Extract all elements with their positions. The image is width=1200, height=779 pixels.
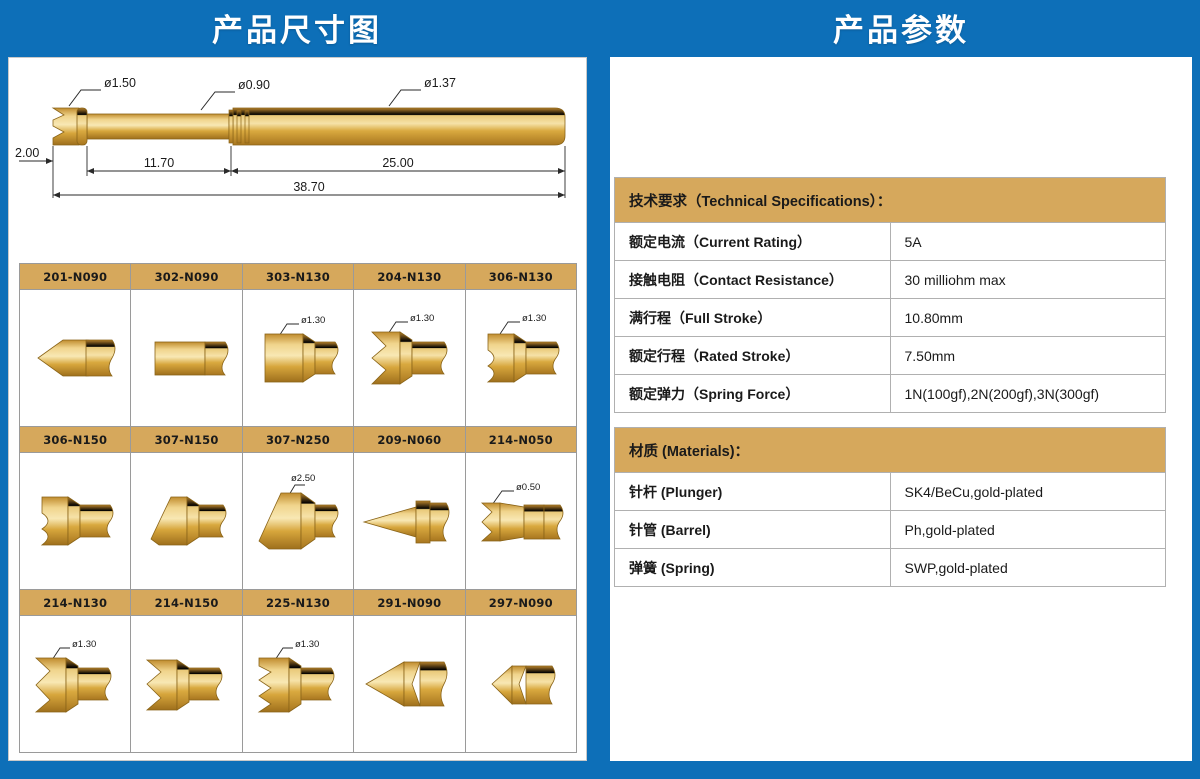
diameter-label: ø1.30	[301, 315, 325, 326]
table-row: 额定行程（Rated Stroke） 7.50mm	[615, 337, 1166, 375]
materials-section-title: 材质 (Materials)：	[615, 428, 1166, 473]
length-label-tip: 2.00	[15, 146, 39, 160]
tip-cell-306-n150	[20, 453, 131, 590]
diameter-label-tip: ø1.50	[104, 76, 136, 90]
diameter-label: ø1.30	[410, 313, 434, 324]
dimension-drawing-panel: ø1.50 ø0.90 ø1.37	[8, 57, 587, 761]
material-value: Ph,gold-plated	[890, 511, 1166, 549]
table-row: 针杆 (Plunger) SK4/BeCu,gold-plated	[615, 473, 1166, 511]
material-key: 针管 (Barrel)	[615, 511, 891, 549]
tip-model-header: 214-N130	[20, 590, 131, 616]
tip-cell-214-n050: ø0.50	[465, 453, 576, 590]
spec-key: 满行程（Full Stroke）	[615, 299, 891, 337]
table-row: 接触电阻（Contact Resistance） 30 milliohm max	[615, 261, 1166, 299]
diameter-label: ø0.50	[516, 482, 540, 493]
page-title-product-parameters: 产品参数	[602, 0, 1200, 54]
tip-cell-204-n130: ø1.30	[354, 290, 465, 427]
table-row: 额定弹力（Spring Force） 1N(100gf),2N(200gf),3…	[615, 375, 1166, 413]
tip-cell-297-n090	[465, 616, 576, 753]
tip-cell-307-n150	[131, 453, 242, 590]
tip-grid-header-row: 201-N090 302-N090 303-N130 204-N130 306-…	[20, 264, 577, 290]
diameter-label: ø1.30	[72, 639, 96, 650]
tip-grid-image-row: ø1.30	[20, 616, 577, 753]
length-label-barrel: 25.00	[382, 156, 413, 170]
spec-key: 接触电阻（Contact Resistance）	[615, 261, 891, 299]
tip-model-header: 291-N090	[354, 590, 465, 616]
tip-model-header: 307-N250	[242, 427, 353, 453]
product-parameters-panel: 技术要求（Technical Specifications）： 额定电流（Cur…	[610, 57, 1192, 761]
technical-specifications-table: 技术要求（Technical Specifications）： 额定电流（Cur…	[614, 177, 1166, 413]
diameter-label: ø1.30	[295, 639, 319, 650]
tip-cell-214-n150	[131, 616, 242, 753]
tip-cell-201-n090	[20, 290, 131, 427]
tip-model-header: 209-N060	[354, 427, 465, 453]
tip-model-header: 225-N130	[242, 590, 353, 616]
length-label-plunger: 11.70	[144, 156, 174, 170]
tip-model-header: 307-N150	[131, 427, 242, 453]
table-section-header: 材质 (Materials)：	[615, 428, 1166, 473]
tip-cell-225-n130: ø1.30	[242, 616, 353, 753]
table-section-header: 技术要求（Technical Specifications）：	[615, 178, 1166, 223]
spec-value: 1N(100gf),2N(200gf),3N(300gf)	[890, 375, 1166, 413]
spec-value: 10.80mm	[890, 299, 1166, 337]
spec-value: 7.50mm	[890, 337, 1166, 375]
tip-cell-302-n090	[131, 290, 242, 427]
tip-model-header: 302-N090	[131, 264, 242, 290]
tip-grid-header-row: 214-N130 214-N150 225-N130 291-N090 297-…	[20, 590, 577, 616]
material-key: 弹簧 (Spring)	[615, 549, 891, 587]
product-spec-sheet: 产品尺寸图 产品参数	[0, 0, 1200, 779]
table-row: 弹簧 (Spring) SWP,gold-plated	[615, 549, 1166, 587]
material-key: 针杆 (Plunger)	[615, 473, 891, 511]
material-value: SK4/BeCu,gold-plated	[890, 473, 1166, 511]
tip-grid-image-row: ø1.30 ø1.30	[20, 290, 577, 427]
length-label-total: 38.70	[293, 180, 324, 194]
tip-cell-214-n130: ø1.30	[20, 616, 131, 753]
spec-key: 额定弹力（Spring Force）	[615, 375, 891, 413]
spec-value: 5A	[890, 223, 1166, 261]
diameter-label: ø1.30	[522, 313, 546, 324]
table-row: 针管 (Barrel) Ph,gold-plated	[615, 511, 1166, 549]
tip-model-header: 306-N130	[465, 264, 576, 290]
tip-cell-291-n090	[354, 616, 465, 753]
tip-cell-306-n130: ø1.30	[465, 290, 576, 427]
tip-model-header: 306-N150	[20, 427, 131, 453]
materials-table: 材质 (Materials)： 针杆 (Plunger) SK4/BeCu,go…	[614, 427, 1166, 587]
diameter-label: ø2.50	[291, 473, 315, 484]
tip-model-header: 201-N090	[20, 264, 131, 290]
tip-model-header: 303-N130	[242, 264, 353, 290]
pin-dimension-diagram: ø1.50 ø0.90 ø1.37	[9, 58, 588, 248]
tip-model-header: 214-N050	[465, 427, 576, 453]
tip-model-header: 204-N130	[354, 264, 465, 290]
spec-key: 额定行程（Rated Stroke）	[615, 337, 891, 375]
material-value: SWP,gold-plated	[890, 549, 1166, 587]
tip-cell-303-n130: ø1.30	[242, 290, 353, 427]
tip-grid-header-row: 306-N150 307-N150 307-N250 209-N060 214-…	[20, 427, 577, 453]
tip-grid-image-row: ø2.50	[20, 453, 577, 590]
tip-cell-209-n060	[354, 453, 465, 590]
tip-model-header: 297-N090	[465, 590, 576, 616]
spec-section-title: 技术要求（Technical Specifications）：	[615, 178, 1166, 223]
diameter-label-plunger: ø0.90	[238, 78, 270, 92]
table-row: 额定电流（Current Rating） 5A	[615, 223, 1166, 261]
tip-cell-307-n250: ø2.50	[242, 453, 353, 590]
tip-model-header: 214-N150	[131, 590, 242, 616]
table-row: 满行程（Full Stroke） 10.80mm	[615, 299, 1166, 337]
spec-value: 30 milliohm max	[890, 261, 1166, 299]
tip-style-grid: 201-N090 302-N090 303-N130 204-N130 306-…	[19, 263, 577, 753]
page-title-dimension-drawing: 产品尺寸图	[0, 0, 594, 54]
diameter-label-barrel: ø1.37	[424, 76, 456, 90]
spec-key: 额定电流（Current Rating）	[615, 223, 891, 261]
